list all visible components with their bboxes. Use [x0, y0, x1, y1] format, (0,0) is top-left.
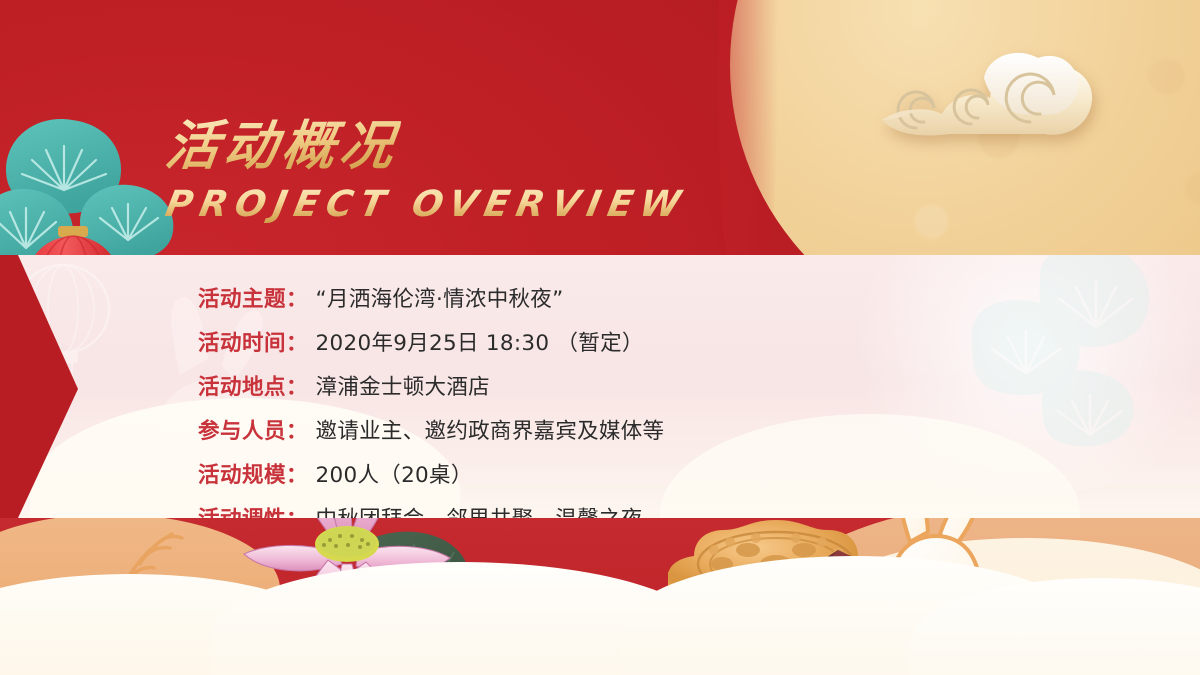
row-label: 活动时间	[198, 324, 286, 364]
slide-root: 活动概况 PROJECT OVERVIEW	[0, 0, 1200, 675]
row-value: 200人（20桌）	[316, 456, 473, 496]
table-row: 活动规模 ： 200人（20桌）	[198, 455, 664, 495]
auspicious-cloud-icon	[880, 42, 1110, 152]
table-row: 活动主题 ： “月洒海伦湾·情浓中秋夜”	[198, 279, 664, 319]
row-colon: ：	[286, 455, 308, 495]
row-value: 邀请业主、邀约政商界嘉宾及媒体等	[316, 412, 665, 452]
table-row: 参与人员 ： 邀请业主、邀约政商界嘉宾及媒体等	[198, 411, 664, 451]
row-label: 活动规模	[198, 456, 286, 496]
page-title-cn: 活动概况	[162, 118, 401, 175]
row-value: “月洒海伦湾·情浓中秋夜”	[316, 280, 564, 320]
row-colon: ：	[286, 499, 308, 518]
info-rows: 活动主题 ： “月洒海伦湾·情浓中秋夜” 活动时间 ： 2020年9月25日 1…	[198, 279, 664, 518]
row-colon: ：	[286, 323, 308, 363]
row-label: 活动主题	[198, 280, 286, 320]
row-value: 2020年9月25日 18:30 （暂定）	[316, 324, 644, 364]
bottom-decoration-band	[0, 518, 1200, 675]
row-label: 活动地点	[198, 368, 286, 408]
page-title-en: PROJECT OVERVIEW	[163, 187, 691, 223]
table-row: 活动调性 ： 中秋团拜会、邻里共聚、温馨之夜	[198, 499, 664, 518]
panel-chevron-notch	[0, 255, 106, 518]
row-label: 活动调性	[198, 500, 286, 518]
content-panel: 活动主题 ： “月洒海伦湾·情浓中秋夜” 活动时间 ： 2020年9月25日 1…	[0, 255, 1200, 518]
row-value: 漳浦金士顿大酒店	[316, 368, 490, 408]
row-colon: ：	[286, 279, 308, 319]
table-row: 活动地点 ： 漳浦金士顿大酒店	[198, 367, 664, 407]
row-value: 中秋团拜会、邻里共聚、温馨之夜	[316, 500, 643, 518]
table-row: 活动时间 ： 2020年9月25日 18:30 （暂定）	[198, 323, 664, 363]
title-block: 活动概况 PROJECT OVERVIEW	[166, 118, 786, 223]
row-colon: ：	[286, 367, 308, 407]
row-colon: ：	[286, 411, 308, 451]
row-label: 参与人员	[198, 412, 286, 452]
